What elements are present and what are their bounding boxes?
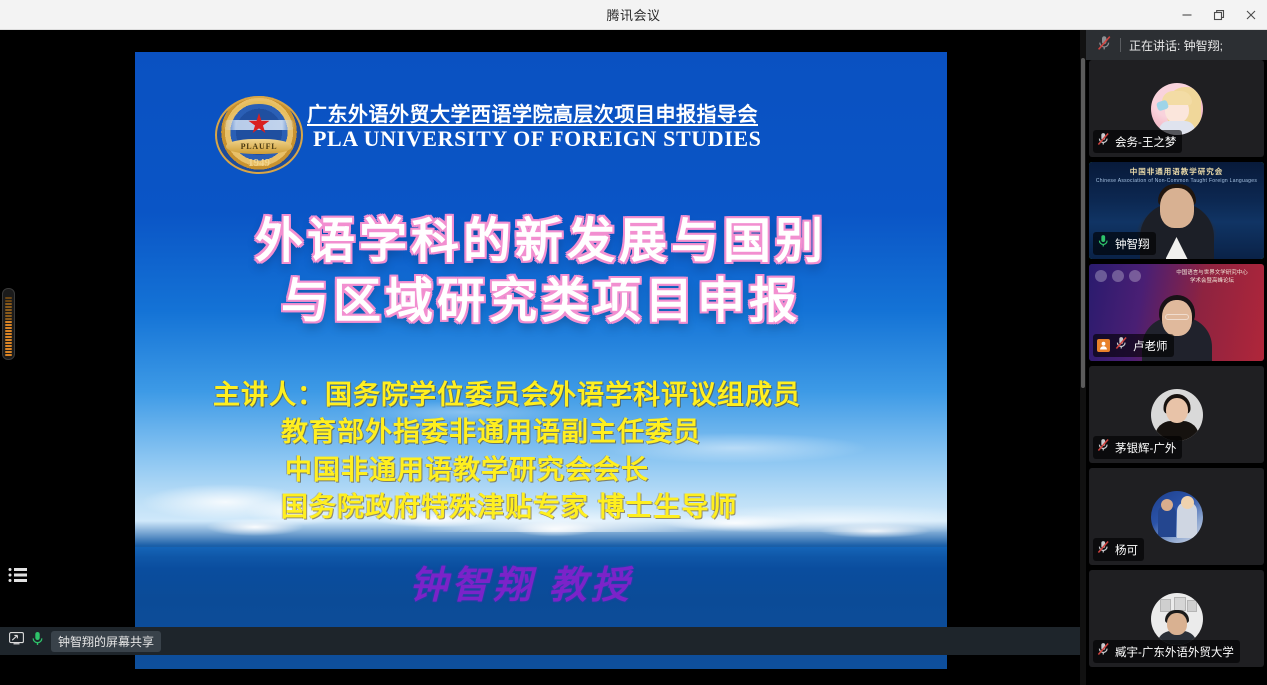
mic-muted-icon [1097, 132, 1110, 151]
credential-line-4: 国务院政府特殊津贴专家 博士生导师 [135, 489, 947, 526]
video-banner-cn: 中国非通用语教学研究会 [1089, 166, 1264, 177]
active-speaker-label: 正在讲话: 钟智翔; [1129, 37, 1223, 54]
active-speaker-bar: 正在讲话: 钟智翔; [1086, 30, 1267, 60]
presentation-slide: PLAUFL 1949 广东外语外贸大学西语学院高层次项目申报指导会 PLA U… [135, 52, 947, 669]
slide-credentials: 主讲人：国务院学位委员会外语学科评议组成员 教育部外指委非通用语副主任委员 中国… [135, 377, 947, 526]
participant-name-bar: 茅银辉-广外 [1093, 436, 1182, 459]
host-badge-icon [1097, 339, 1110, 352]
university-emblem-icon: PLAUFL 1949 [215, 96, 303, 174]
participant-name: 茅银辉-广外 [1115, 440, 1176, 456]
slide-speaker-signature: 钟智翔 教授 [135, 554, 947, 609]
shared-screen-stage: PLAUFL 1949 广东外语外贸大学西语学院高层次项目申报指导会 PLA U… [0, 30, 1080, 655]
participant-tile[interactable]: 茅银辉-广外 [1089, 366, 1264, 463]
close-button[interactable] [1235, 0, 1267, 30]
mic-on-icon[interactable] [31, 631, 44, 651]
slide-university-en: PLA UNIVERSITY OF FOREIGN STUDIES [313, 126, 761, 152]
minimize-button[interactable] [1171, 0, 1203, 30]
participant-tile[interactable]: 中国语言与世界文学研究中心 学术会暨高峰论坛 [1089, 264, 1264, 361]
slide-title-line-1: 外语学科的新发展与国别 [135, 212, 947, 272]
mic-muted-icon [1097, 540, 1110, 559]
avatar [1151, 83, 1203, 135]
participant-name-bar: 钟智翔 [1093, 232, 1156, 255]
tencent-meeting-window: 腾讯会议 [0, 0, 1267, 685]
participants-scrollbar-thumb[interactable] [1081, 58, 1085, 388]
window-title: 腾讯会议 [606, 5, 660, 24]
slide-title-line-2: 与区域研究类项目申报 [135, 272, 947, 332]
shared-content-area[interactable]: PLAUFL 1949 广东外语外贸大学西语学院高层次项目申报指导会 PLA U… [0, 30, 1080, 655]
mic-on-icon [1097, 234, 1110, 253]
participant-name-bar: 会务-王之梦 [1093, 130, 1182, 153]
window-title-bar: 腾讯会议 [0, 0, 1267, 30]
emblem-ribbon-text: PLAUFL [226, 139, 292, 154]
credential-line-1: 主讲人：国务院学位委员会外语学科评议组成员 [135, 377, 947, 414]
participant-name-bar: 臧宇-广东外语外贸大学 [1093, 640, 1240, 663]
audio-level-meter[interactable] [2, 288, 15, 360]
participant-tile[interactable]: 臧宇-广东外语外贸大学 [1089, 570, 1264, 667]
participant-name-bar: 杨可 [1093, 538, 1144, 561]
avatar [1151, 389, 1203, 441]
screen-share-icon [9, 632, 24, 650]
participant-tile[interactable]: 中国非通用语教学研究会 Chinese Association of Non-C… [1089, 162, 1264, 259]
avatar [1151, 491, 1203, 543]
participant-name: 臧宇-广东外语外贸大学 [1115, 644, 1234, 660]
participant-list-icon[interactable] [4, 560, 32, 590]
emblem-year-text: 1949 [215, 157, 303, 169]
window-controls [1171, 0, 1267, 30]
mic-muted-icon [1097, 642, 1110, 661]
slide-header: PLAUFL 1949 广东外语外贸大学西语学院高层次项目申报指导会 PLA U… [135, 96, 947, 174]
credential-line-2: 教育部外指委非通用语副主任委员 [135, 414, 947, 451]
participant-name: 杨可 [1115, 542, 1138, 558]
mic-muted-icon [1097, 438, 1110, 457]
participant-tile[interactable]: 杨可 [1089, 468, 1264, 565]
video-banner-cn: 中国语言与世界文学研究中心 学术会暨高峰论坛 [1166, 269, 1258, 286]
restore-button[interactable] [1203, 0, 1235, 30]
participant-name: 钟智翔 [1115, 236, 1150, 252]
screen-share-status-bar: 钟智翔的屏幕共享 [0, 627, 1080, 655]
participant-tile[interactable]: 会务-王之梦 [1089, 60, 1264, 157]
participant-tiles: 正在讲话: 钟智翔; [1086, 30, 1267, 685]
avatar [1151, 593, 1203, 645]
mic-muted-icon [1097, 35, 1112, 56]
participants-panel: 正在讲话: 钟智翔; [1080, 30, 1267, 685]
credential-line-3: 中国非通用语教学研究会会长 [135, 452, 947, 489]
participant-name-bar: 卢老师 [1093, 334, 1174, 357]
participant-name: 卢老师 [1133, 338, 1168, 354]
slide-university-cn: 广东外语外贸大学西语学院高层次项目申报指导会 [307, 98, 758, 127]
screen-share-owner-label: 钟智翔的屏幕共享 [51, 631, 161, 652]
mic-muted-icon [1115, 336, 1128, 355]
participant-name: 会务-王之梦 [1115, 134, 1176, 150]
slide-main-title: 外语学科的新发展与国别 与区域研究类项目申报 [135, 212, 947, 332]
